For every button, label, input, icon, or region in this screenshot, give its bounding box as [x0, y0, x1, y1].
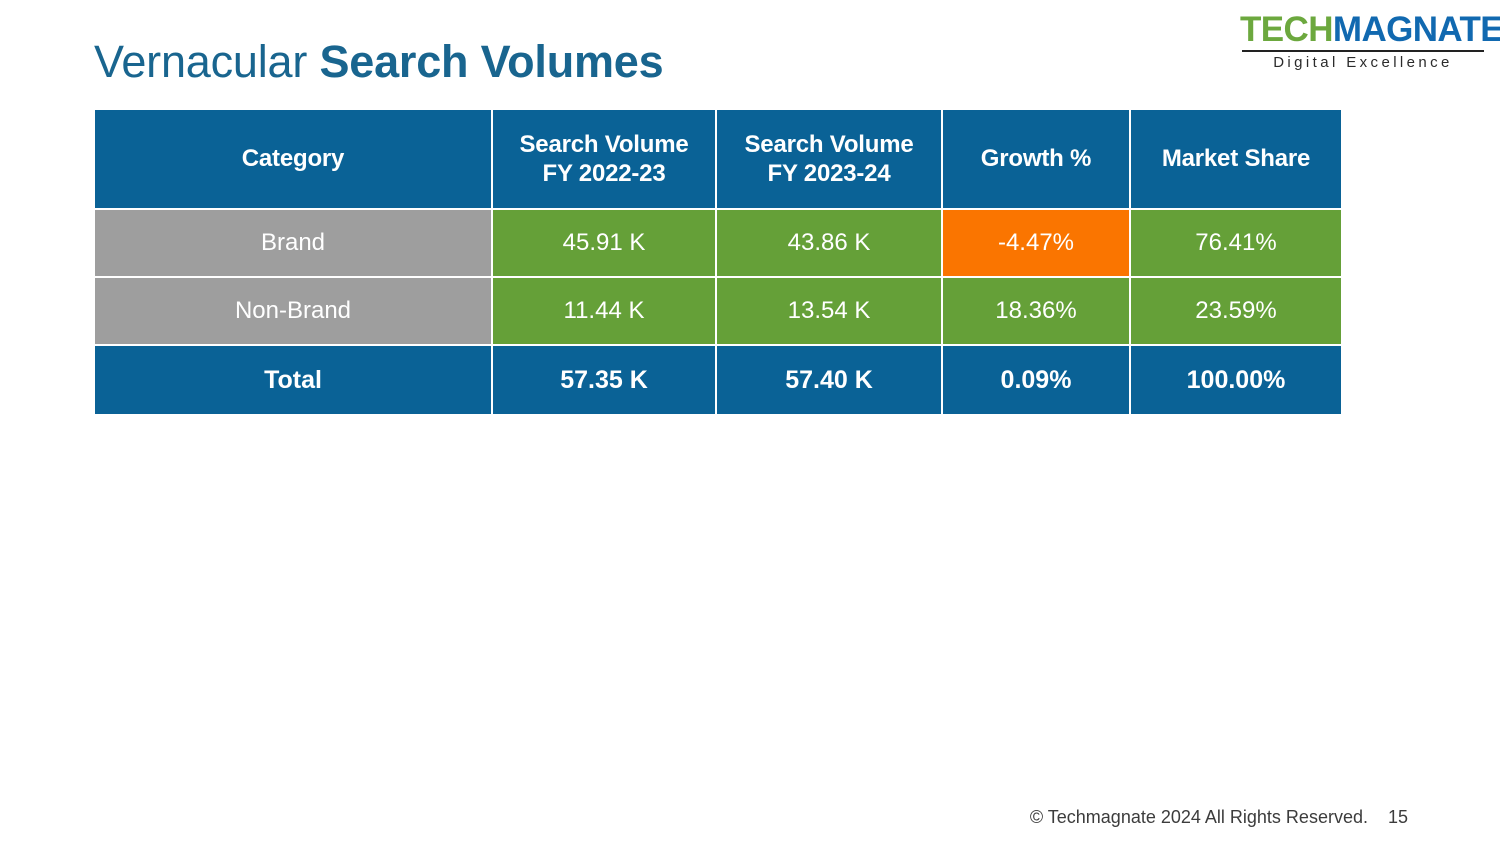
page-number: 15	[1388, 807, 1408, 828]
column-header-growth-line1: Growth %	[981, 145, 1091, 172]
cell-category-total: Total	[95, 346, 491, 414]
column-header-search-volume-fy2022-23: Search Volume FY 2022-23	[493, 110, 715, 208]
table-header-row: Category Search Volume FY 2022-23 Search…	[95, 110, 1341, 208]
cell-sv2023-non-brand: 13.54 K	[717, 278, 941, 344]
table-header: Category Search Volume FY 2022-23 Search…	[95, 110, 1341, 208]
column-header-sv1-line1: Search Volume	[519, 131, 688, 158]
cell-growth-non-brand: 18.36%	[943, 278, 1129, 344]
logo-divider	[1242, 50, 1484, 52]
cell-category-non-brand: Non-Brand	[95, 278, 491, 344]
cell-sv2022-brand: 45.91 K	[493, 210, 715, 276]
table-body: Brand 45.91 K 43.86 K -4.47% 76.41% Non-…	[95, 210, 1341, 414]
column-header-sv2-line2: FY 2023-24	[717, 159, 941, 188]
logo-text-tech: TECH	[1240, 10, 1333, 49]
table-row: Brand 45.91 K 43.86 K -4.47% 76.41%	[95, 210, 1341, 276]
column-header-market-share: Market Share	[1131, 110, 1341, 208]
cell-sv2022-total: 57.35 K	[493, 346, 715, 414]
cell-sv2023-total: 57.40 K	[717, 346, 941, 414]
techmagnate-logo: TECHMAGNATE® Digital Excellence	[1240, 12, 1486, 70]
cell-share-total: 100.00%	[1131, 346, 1341, 414]
column-header-sv1-line2: FY 2022-23	[493, 159, 715, 188]
page-title-light: Vernacular	[94, 36, 319, 87]
search-volumes-table: Category Search Volume FY 2022-23 Search…	[93, 108, 1343, 416]
cell-share-non-brand: 23.59%	[1131, 278, 1341, 344]
cell-category-brand: Brand	[95, 210, 491, 276]
footer: © Techmagnate 2024 All Rights Reserved. …	[1030, 807, 1408, 828]
page-title: Vernacular Search Volumes	[94, 36, 663, 88]
cell-growth-brand: -4.47%	[943, 210, 1129, 276]
column-header-sv2-line1: Search Volume	[744, 131, 913, 158]
table-row: Non-Brand 11.44 K 13.54 K 18.36% 23.59%	[95, 278, 1341, 344]
copyright-text: © Techmagnate 2024 All Rights Reserved.	[1030, 807, 1368, 828]
column-header-category-line1: Category	[242, 145, 344, 172]
column-header-growth-pct: Growth %	[943, 110, 1129, 208]
cell-sv2023-brand: 43.86 K	[717, 210, 941, 276]
table-total-row: Total 57.35 K 57.40 K 0.09% 100.00%	[95, 346, 1341, 414]
search-volumes-table-container: Category Search Volume FY 2022-23 Search…	[93, 108, 1333, 416]
column-header-category: Category	[95, 110, 491, 208]
column-header-share-line1: Market Share	[1162, 145, 1310, 172]
column-header-search-volume-fy2023-24: Search Volume FY 2023-24	[717, 110, 941, 208]
logo-wordmark: TECHMAGNATE®	[1240, 12, 1486, 48]
cell-share-brand: 76.41%	[1131, 210, 1341, 276]
logo-text-magnate: MAGNATE	[1333, 10, 1500, 49]
logo-tagline: Digital Excellence	[1240, 55, 1486, 70]
cell-growth-total: 0.09%	[943, 346, 1129, 414]
cell-sv2022-non-brand: 11.44 K	[493, 278, 715, 344]
page-title-bold: Search Volumes	[319, 36, 663, 87]
slide: TECHMAGNATE® Digital Excellence Vernacul…	[0, 0, 1500, 844]
